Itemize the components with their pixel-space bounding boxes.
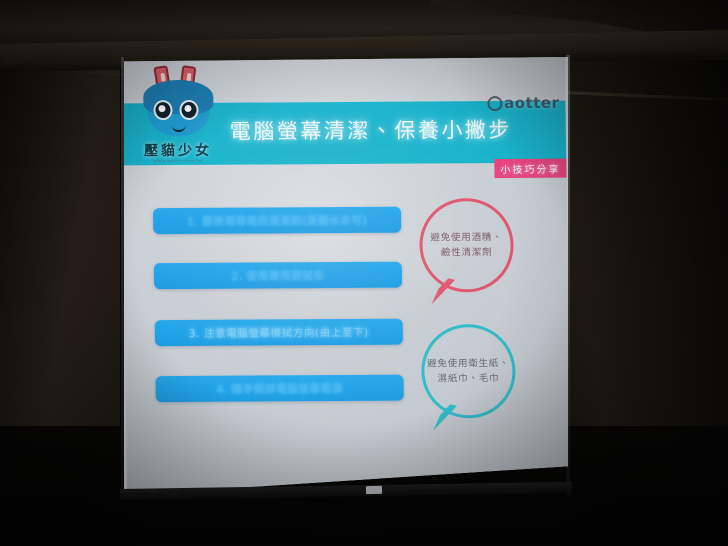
bubble-line-2: 濕紙巾、毛巾 — [438, 371, 500, 386]
brand-name: aotter — [504, 94, 560, 112]
slide-title: 電腦螢幕清潔、保養小撇步 — [230, 114, 521, 156]
mascot-eye-right-icon — [179, 100, 198, 120]
step-bar-4: 4. 隨手關掉電腦螢幕電源 — [155, 375, 403, 403]
speech-bubble-avoid-tissue: 避免使用衛生紙、 濕紙巾、毛巾 — [421, 324, 516, 419]
projection-screen-assembly: 電腦螢幕清潔、保養小撇步 aotter 小技巧分享 壓貓少女 www.aotte… — [0, 0, 728, 546]
projection-screen: 電腦螢幕清潔、保養小撇步 aotter 小技巧分享 壓貓少女 www.aotte… — [124, 57, 568, 497]
bubble-line-1: 避免使用酒精、 — [430, 230, 502, 245]
mascot-logo: 壓貓少女 www.aotter.com.tw — [129, 66, 227, 177]
bubble-line-1: 避免使用衛生紙、 — [427, 356, 510, 372]
step-bar-3-label: 3. 注意電腦螢幕擦拭方向(由上至下) — [189, 324, 369, 340]
aotter-brand-logo: aotter — [487, 94, 560, 112]
step-bar-1: 1. 要使用專用的清潔劑(蒸餾水亦可) — [153, 207, 401, 235]
circle-mark-icon — [487, 96, 502, 111]
screen-left-edge — [121, 57, 124, 497]
step-bar-3: 3. 注意電腦螢幕擦拭方向(由上至下) — [155, 319, 403, 347]
bubble-tail-icon — [431, 278, 455, 304]
step-bar-2: 2. 使用專用擦拭布 — [154, 262, 402, 290]
bubble-tail-icon — [433, 404, 457, 430]
bubble-line-2: 鹼性清潔劑 — [441, 245, 493, 260]
mascot-eye-left-icon — [153, 100, 172, 120]
step-bar-2-label: 2. 使用專用擦拭布 — [231, 268, 324, 284]
status-badge: 小技巧分享 — [494, 159, 566, 178]
presentation-slide: 電腦螢幕清潔、保養小撇步 aotter 小技巧分享 壓貓少女 www.aotte… — [121, 56, 572, 499]
screen-pull-tab — [366, 486, 382, 494]
mascot-subtitle: www.aotter.com.tw — [136, 158, 220, 165]
speech-bubble-avoid-alcohol: 避免使用酒精、 鹼性清潔劑 — [419, 198, 514, 293]
step-bar-4-label: 4. 隨手關掉電腦螢幕電源 — [216, 381, 342, 397]
step-bar-1-label: 1. 要使用專用的清潔劑(蒸餾水亦可) — [187, 212, 367, 228]
